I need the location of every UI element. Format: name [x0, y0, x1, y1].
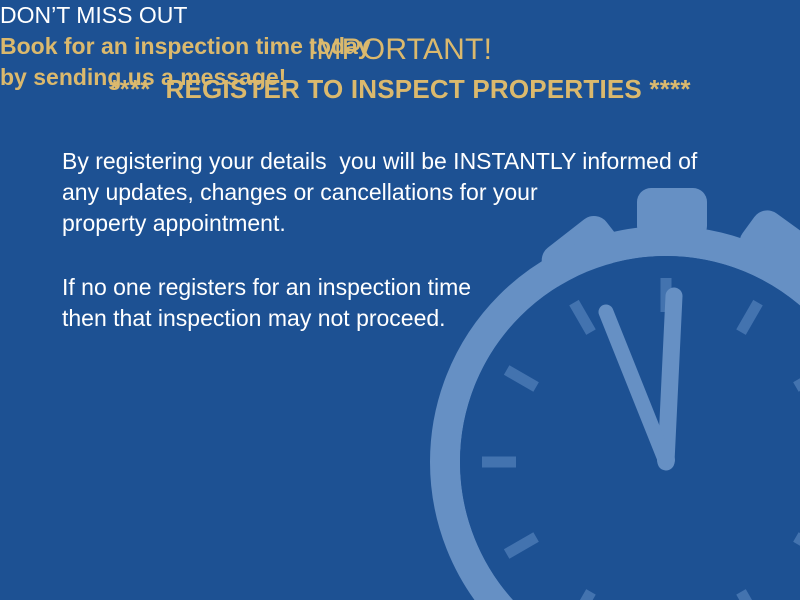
- heading-block: IMPORTANT! **** REGISTER TO INSPECT PROP…: [0, 30, 800, 108]
- paragraph-no-one-registers: If no one registers for an inspection ti…: [62, 272, 582, 334]
- cta-dont-miss-out: DON’T MISS OUT: [0, 0, 470, 31]
- slide-canvas: IMPORTANT! **** REGISTER TO INSPECT PROP…: [0, 0, 800, 600]
- text-layer: IMPORTANT! **** REGISTER TO INSPECT PROP…: [0, 0, 800, 600]
- heading-important: IMPORTANT!: [0, 30, 800, 70]
- heading-register-to-inspect: **** REGISTER TO INSPECT PROPERTIES ****: [0, 70, 800, 108]
- paragraph-registering-details: By registering your details you will be …: [62, 146, 722, 239]
